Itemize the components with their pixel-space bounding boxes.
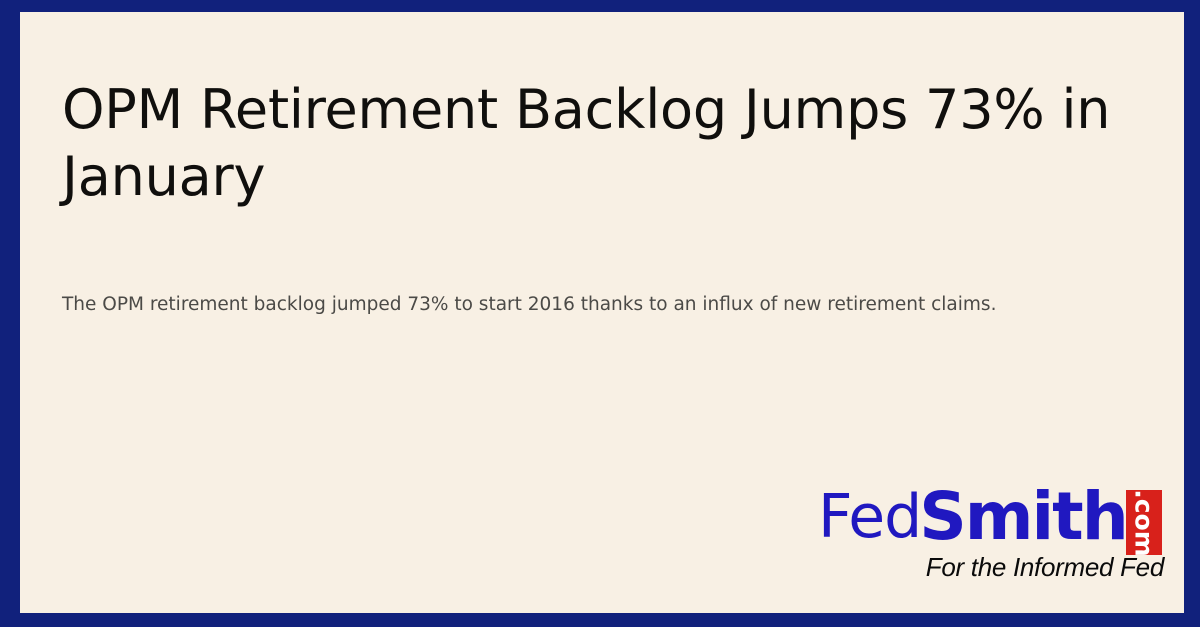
logo-dotcom-badge: .com bbox=[1126, 490, 1162, 555]
logo-tagline: For the Informed Fed bbox=[884, 553, 1164, 581]
page-title: OPM Retirement Backlog Jumps 73% in Janu… bbox=[62, 76, 1152, 210]
fedsmith-logo[interactable]: Fed Smith .com For the Informed Fed bbox=[818, 475, 1144, 583]
card-content: OPM Retirement Backlog Jumps 73% in Janu… bbox=[20, 12, 1184, 613]
social-share-card: OPM Retirement Backlog Jumps 73% in Janu… bbox=[0, 0, 1200, 627]
logo-wordmark: Fed Smith bbox=[818, 475, 1127, 547]
logo-dotcom-text: .com bbox=[1132, 490, 1157, 555]
logo-word-smith: Smith bbox=[919, 487, 1126, 547]
logo-word-fed: Fed bbox=[818, 487, 921, 547]
article-summary: The OPM retirement backlog jumped 73% to… bbox=[62, 290, 1062, 319]
